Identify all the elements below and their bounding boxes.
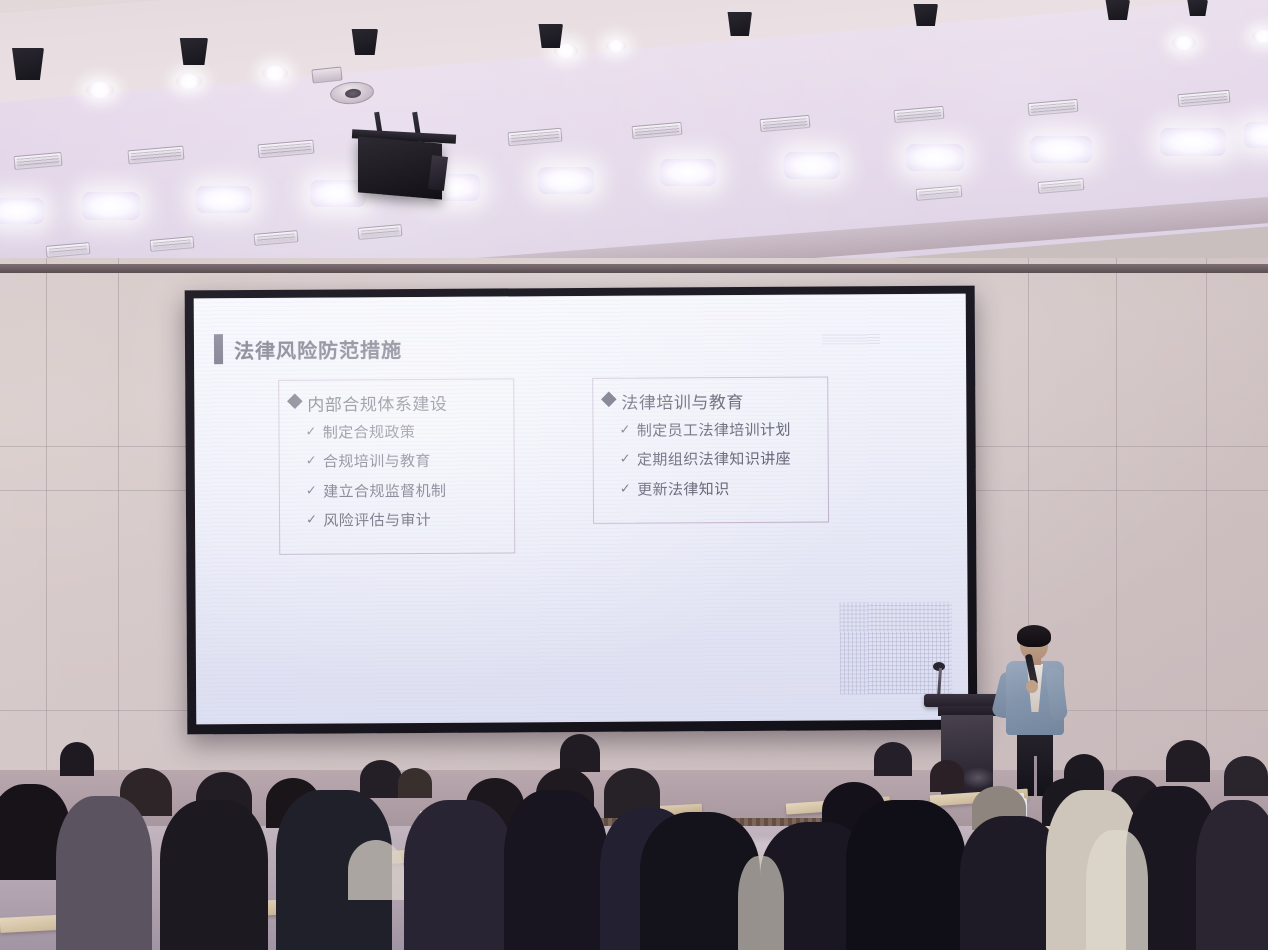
audience-member bbox=[1086, 830, 1148, 950]
ceiling-panel-light bbox=[660, 159, 716, 186]
list-item: ✓ 更新法律知识 bbox=[620, 478, 816, 499]
ceiling-panel-light bbox=[82, 192, 140, 220]
list-item-label: 风险评估与审计 bbox=[323, 510, 431, 531]
list-item-label: 制定合规政策 bbox=[323, 422, 416, 443]
audience-member bbox=[360, 760, 402, 798]
check-icon: ✓ bbox=[306, 452, 317, 472]
projection-screen: 法律风险防范措施 内部合规体系建设 ✓ 制定合规政策 bbox=[194, 294, 969, 725]
list-item-label: 建立合规监督机制 bbox=[323, 480, 446, 501]
audience-member bbox=[930, 760, 964, 792]
screen-moire-pattern bbox=[840, 602, 953, 695]
wall-seam bbox=[118, 258, 119, 778]
slide-columns: 内部合规体系建设 ✓ 制定合规政策 ✓ 合规培训与教育 ✓ bbox=[278, 376, 931, 555]
check-icon: ✓ bbox=[620, 450, 631, 470]
slide-title-accent-bar bbox=[214, 334, 223, 364]
presenter-hand bbox=[1026, 680, 1038, 693]
downlight-icon bbox=[1172, 36, 1196, 50]
ceiling-panel-light bbox=[784, 152, 840, 179]
downlight-icon bbox=[606, 40, 626, 52]
slide-artifact bbox=[822, 334, 880, 344]
wall-seam bbox=[1206, 258, 1207, 778]
wall-seam bbox=[1116, 258, 1117, 778]
audience-member bbox=[348, 840, 404, 900]
downlight-icon bbox=[1252, 30, 1268, 43]
ceiling-panel-light bbox=[1030, 136, 1092, 163]
ceiling-panel-light bbox=[0, 198, 44, 224]
audience-member bbox=[60, 742, 94, 776]
list-item: ✓ 建立合规监督机制 bbox=[306, 480, 502, 501]
audience-member bbox=[504, 790, 608, 950]
presenter-leg-gap bbox=[1034, 756, 1037, 796]
audience-member bbox=[404, 800, 514, 950]
audience-member bbox=[874, 742, 912, 776]
list-item: ✓ 风险评估与审计 bbox=[306, 509, 502, 530]
slide-column-list: ✓ 制定合规政策 ✓ 合规培训与教育 ✓ 建立合规监督机制 ✓ bbox=[289, 421, 502, 530]
list-item-label: 更新法律知识 bbox=[637, 479, 730, 500]
downlight-icon bbox=[86, 82, 114, 98]
audience-member bbox=[56, 796, 152, 950]
slide-title-group: 法律风险防范措施 bbox=[214, 333, 402, 364]
projection-screen-frame: 法律风险防范措施 内部合规体系建设 ✓ 制定合规政策 bbox=[185, 286, 978, 735]
slide-column-list: ✓ 制定员工法律培训计划 ✓ 定期组织法律知识讲座 ✓ 更新法律知识 bbox=[603, 420, 815, 500]
ceiling-panel-light bbox=[1160, 128, 1226, 156]
wall-top-trim bbox=[0, 264, 1268, 273]
list-item: ✓ 制定员工法律培训计划 bbox=[619, 420, 815, 441]
slide-column-heading-text: 法律培训与教育 bbox=[621, 388, 744, 414]
audience-member bbox=[1196, 800, 1268, 950]
presenter bbox=[1004, 628, 1068, 798]
audience-member bbox=[560, 734, 600, 772]
audience-member bbox=[160, 800, 268, 950]
ceiling-panel-light bbox=[538, 167, 594, 194]
ceiling-panel-light bbox=[1244, 122, 1268, 148]
slide-column-box: 内部合规体系建设 ✓ 制定合规政策 ✓ 合规培训与教育 ✓ bbox=[278, 378, 515, 554]
downlight-icon bbox=[262, 66, 288, 81]
audience-member bbox=[398, 768, 432, 798]
audience-member bbox=[846, 800, 966, 950]
check-icon: ✓ bbox=[306, 510, 317, 530]
ceiling-panel-light bbox=[196, 186, 252, 213]
audience-member bbox=[1224, 756, 1268, 796]
list-item: ✓ 制定合规政策 bbox=[305, 421, 501, 442]
check-icon: ✓ bbox=[619, 421, 630, 441]
ceiling-panel-light bbox=[906, 144, 964, 171]
lectern-emblem bbox=[961, 767, 995, 789]
list-item: ✓ 定期组织法律知识讲座 bbox=[620, 449, 816, 470]
lecture-hall-photo: 法律风险防范措施 内部合规体系建设 ✓ 制定合规政策 bbox=[0, 0, 1268, 950]
diamond-bullet-icon bbox=[287, 393, 303, 409]
slide-column-heading: 内部合规体系建设 bbox=[289, 389, 501, 415]
check-icon: ✓ bbox=[620, 479, 631, 499]
diamond-bullet-icon bbox=[601, 392, 617, 408]
audience-member bbox=[738, 856, 784, 950]
downlight-icon bbox=[176, 74, 202, 89]
audience-member bbox=[1166, 740, 1210, 782]
check-icon: ✓ bbox=[306, 481, 317, 501]
list-item-label: 合规培训与教育 bbox=[323, 451, 431, 472]
wall-seam bbox=[46, 258, 47, 778]
slide-column-box: 法律培训与教育 ✓ 制定员工法律培训计划 ✓ 定期组织法律知识讲座 ✓ bbox=[592, 376, 829, 523]
list-item-label: 制定员工法律培训计划 bbox=[637, 420, 791, 441]
slide-column-heading: 法律培训与教育 bbox=[603, 388, 815, 414]
projector-body bbox=[358, 136, 442, 199]
check-icon: ✓ bbox=[305, 423, 316, 443]
list-item-label: 定期组织法律知识讲座 bbox=[637, 449, 791, 470]
list-item: ✓ 合规培训与教育 bbox=[306, 451, 502, 472]
presenter-hair bbox=[1017, 625, 1051, 647]
slide-column-heading-text: 内部合规体系建设 bbox=[307, 390, 447, 416]
slide-title: 法律风险防范措施 bbox=[234, 334, 402, 364]
